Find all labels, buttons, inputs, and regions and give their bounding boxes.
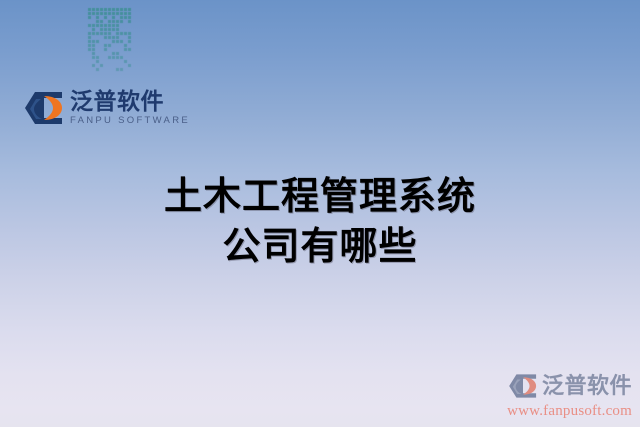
brand-logo: 泛普软件 FANPU SOFTWARE bbox=[22, 86, 190, 130]
fanpu-hexagon-swoosh-watermark-icon bbox=[507, 370, 539, 402]
brand-name-en: FANPU SOFTWARE bbox=[70, 116, 190, 126]
watermark-brand-row: 泛普软件 bbox=[507, 370, 632, 402]
pixel-skyline-icon bbox=[44, 0, 144, 80]
fanpu-hexagon-swoosh-icon bbox=[22, 86, 66, 130]
watermark-url: www.fanpusoft.com bbox=[507, 403, 632, 420]
page-title: 土木工程管理系统 公司有哪些 bbox=[0, 172, 640, 272]
brand-name-cn: 泛普软件 bbox=[70, 89, 190, 114]
watermark: 泛普软件 www.fanpusoft.com bbox=[507, 370, 632, 420]
slide-canvas: 泛普软件 FANPU SOFTWARE 土木工程管理系统 公司有哪些 泛普软件 … bbox=[0, 0, 640, 427]
page-title-line-1: 土木工程管理系统 bbox=[0, 172, 640, 222]
page-title-line-2: 公司有哪些 bbox=[0, 222, 640, 272]
brand-logo-text: 泛普软件 FANPU SOFTWARE bbox=[70, 89, 190, 126]
watermark-brand-name: 泛普软件 bbox=[542, 375, 632, 397]
